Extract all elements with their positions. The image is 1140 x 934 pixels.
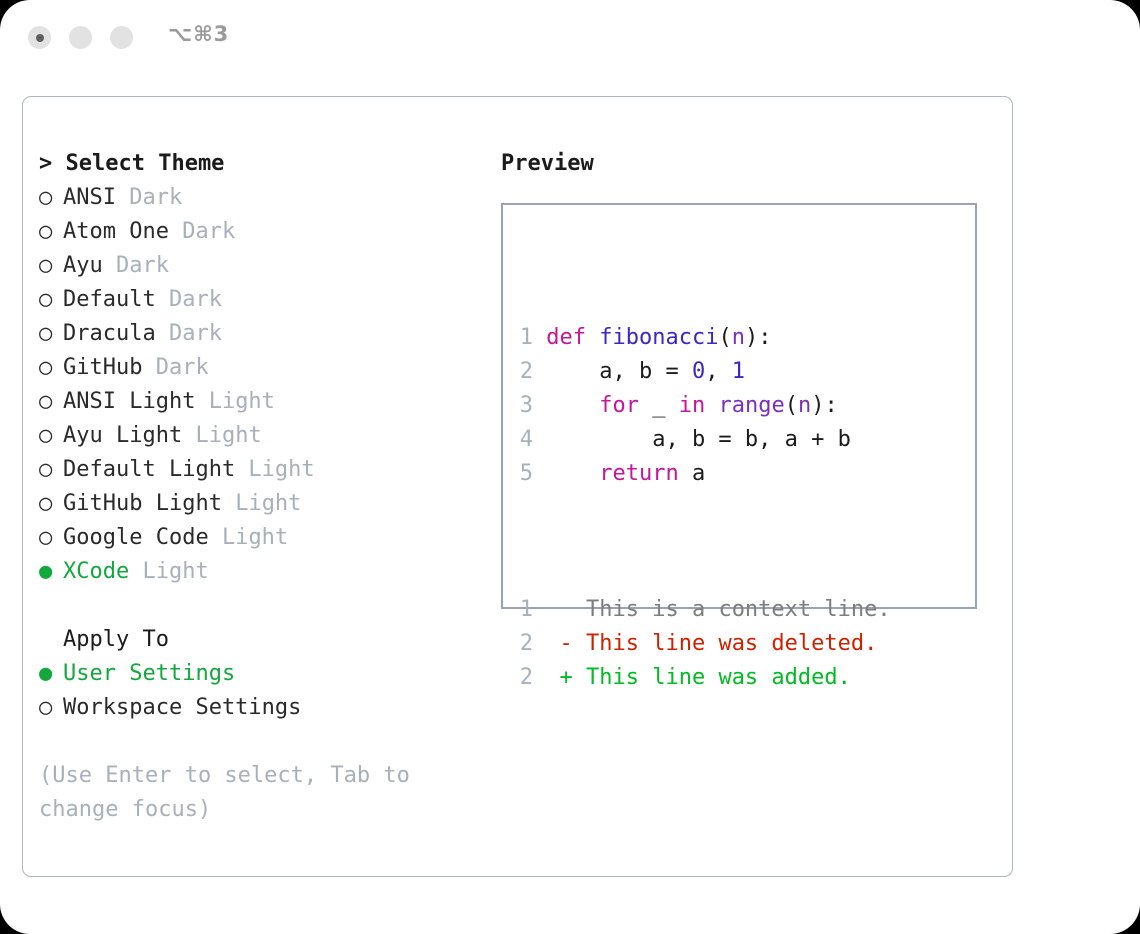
radio-unselected-icon: ○: [39, 317, 63, 351]
window-button-close[interactable]: [28, 26, 51, 49]
diff-line-del: 2 - This line was deleted.: [519, 627, 891, 661]
window-button-close-dot: [36, 34, 44, 42]
radio-unselected-icon: ○: [39, 385, 63, 419]
diff-line-number: 2: [519, 661, 533, 695]
apply-to-list: ●User Settings○Workspace Settings: [39, 657, 489, 725]
theme-name: Ayu Light: [63, 423, 182, 448]
theme-name: GitHub: [63, 355, 142, 380]
theme-name: Dracula: [63, 321, 156, 346]
code-token-fn: fibonacci: [599, 325, 718, 350]
radio-unselected-icon: ○: [39, 419, 63, 453]
code-token-num: 0: [692, 359, 705, 384]
apply-to-header: Apply To: [39, 623, 489, 657]
theme-option-dracula[interactable]: ○Dracula Dark: [39, 317, 489, 351]
theme-option-ansi[interactable]: ○ANSI Dark: [39, 181, 489, 215]
code-token-pln: [586, 325, 599, 350]
apply-to-label: User Settings: [63, 661, 235, 686]
theme-variant-tag: Dark: [142, 355, 208, 380]
theme-variant-tag: Dark: [156, 287, 222, 312]
code-token-pln: a: [679, 461, 706, 486]
theme-option-default[interactable]: ○Default Dark: [39, 283, 489, 317]
preview-column: Preview 1 def fibonacci(n):2 a, b = 0, 1…: [501, 147, 1001, 609]
window-button-minimize[interactable]: [69, 26, 92, 49]
radio-unselected-icon: ○: [39, 249, 63, 283]
diff-text: This line was added.: [573, 665, 851, 690]
keyboard-shortcut-label: ⌥⌘3: [168, 22, 229, 46]
theme-option-ayu[interactable]: ○Ayu Dark: [39, 249, 489, 283]
code-token-pln: ):: [745, 325, 772, 350]
theme-option-default-light[interactable]: ○Default Light Light: [39, 453, 489, 487]
code-token-pln: ):: [811, 393, 838, 418]
theme-variant-tag: Light: [129, 559, 208, 584]
code-token-pln: a, b = b, a + b: [546, 427, 851, 452]
radio-unselected-icon: ○: [39, 181, 63, 215]
code-token-pln: ,: [705, 359, 732, 384]
code-sample: 1 def fibonacci(n):2 a, b = 0, 13 for _ …: [519, 253, 891, 763]
code-line-number: 4: [519, 423, 533, 457]
diff-line-ctx: 1 This is a context line.: [519, 593, 891, 627]
app-window: ⌥⌘3 > Select Theme ○ANSI Dark○Atom One D…: [0, 0, 1140, 934]
code-token-num: 1: [732, 359, 745, 384]
radio-unselected-icon: ○: [39, 691, 63, 725]
radio-unselected-icon: ○: [39, 283, 63, 317]
radio-unselected-icon: ○: [39, 351, 63, 385]
theme-name: Google Code: [63, 525, 209, 550]
preview-title: Preview: [501, 147, 1001, 181]
theme-variant-tag: Dark: [116, 185, 182, 210]
theme-name: XCode: [63, 559, 129, 584]
theme-list: ○ANSI Dark○Atom One Dark○Ayu Dark○Defaul…: [39, 181, 489, 589]
window-button-maximize[interactable]: [110, 26, 133, 49]
code-line: 5 return a: [519, 457, 891, 491]
theme-option-ayu-light[interactable]: ○Ayu Light Light: [39, 419, 489, 453]
code-token-pln: (: [718, 325, 731, 350]
keyboard-hint: (Use Enter to select, Tab to change focu…: [39, 759, 459, 827]
code-token-kw: in: [679, 393, 706, 418]
radio-selected-icon: ●: [39, 657, 63, 691]
theme-variant-tag: Light: [222, 491, 301, 516]
diff-sign: +: [560, 665, 573, 690]
theme-option-github-light[interactable]: ○GitHub Light Light: [39, 487, 489, 521]
apply-to-label: Workspace Settings: [63, 695, 301, 720]
diff-line-number: 1: [519, 593, 533, 627]
radio-unselected-icon: ○: [39, 453, 63, 487]
theme-variant-tag: Light: [195, 389, 274, 414]
diff-lines: 1 This is a context line.2 - This line w…: [519, 593, 891, 695]
window-controls: [28, 26, 133, 49]
spacer-2: [39, 725, 489, 759]
theme-name: Default: [63, 287, 156, 312]
theme-option-ansi-light[interactable]: ○ANSI Light Light: [39, 385, 489, 419]
code-token-pln: [546, 461, 599, 486]
diff-sign: [560, 597, 573, 622]
code-token-pln: _: [639, 393, 679, 418]
apply-to-option-workspace-settings[interactable]: ○Workspace Settings: [39, 691, 489, 725]
diff-line-number: 2: [519, 627, 533, 661]
diff-text: This line was deleted.: [573, 631, 878, 656]
code-line-number: 3: [519, 389, 533, 423]
main-panel: > Select Theme ○ANSI Dark○Atom One Dark○…: [22, 96, 1013, 877]
radio-selected-icon: ●: [39, 555, 63, 589]
radio-unselected-icon: ○: [39, 215, 63, 249]
spacer: [39, 589, 489, 623]
apply-to-option-user-settings[interactable]: ●User Settings: [39, 657, 489, 691]
theme-option-atom-one[interactable]: ○Atom One Dark: [39, 215, 489, 249]
radio-unselected-icon: ○: [39, 521, 63, 555]
theme-variant-tag: Dark: [169, 219, 235, 244]
code-line-number: 2: [519, 355, 533, 389]
select-theme-header: > Select Theme: [39, 147, 489, 181]
preview-box: 1 def fibonacci(n):2 a, b = 0, 13 for _ …: [501, 203, 977, 609]
theme-name: Default Light: [63, 457, 235, 482]
theme-option-github[interactable]: ○GitHub Dark: [39, 351, 489, 385]
code-line: 3 for _ in range(n):: [519, 389, 891, 423]
theme-variant-tag: Dark: [156, 321, 222, 346]
code-token-var: n: [732, 325, 745, 350]
theme-option-xcode[interactable]: ●XCode Light: [39, 555, 489, 589]
theme-variant-tag: Light: [235, 457, 314, 482]
code-line: 4 a, b = b, a + b: [519, 423, 891, 457]
code-lines: 1 def fibonacci(n):2 a, b = 0, 13 for _ …: [519, 321, 891, 491]
code-token-kw: return: [599, 461, 678, 486]
code-token-kw: for: [599, 393, 639, 418]
code-token-pln: [546, 393, 599, 418]
theme-name: ANSI Light: [63, 389, 195, 414]
code-token-pln: (: [785, 393, 798, 418]
theme-variant-tag: Dark: [103, 253, 169, 278]
diff-line-add: 2 + This line was added.: [519, 661, 891, 695]
theme-selector-column: > Select Theme ○ANSI Dark○Atom One Dark○…: [39, 147, 489, 827]
code-line-number: 5: [519, 457, 533, 491]
theme-variant-tag: Light: [209, 525, 288, 550]
theme-variant-tag: Light: [182, 423, 261, 448]
theme-name: Ayu: [63, 253, 103, 278]
title-bar: ⌥⌘3: [0, 0, 1140, 78]
radio-unselected-icon: ○: [39, 487, 63, 521]
theme-name: GitHub Light: [63, 491, 222, 516]
diff-sign: -: [560, 631, 573, 656]
theme-name: ANSI: [63, 185, 116, 210]
code-token-bi: range: [718, 393, 784, 418]
code-token-var: n: [798, 393, 811, 418]
code-line-number: 1: [519, 321, 533, 355]
theme-name: Atom One: [63, 219, 169, 244]
theme-option-google-code[interactable]: ○Google Code Light: [39, 521, 489, 555]
code-token-pln: a, b =: [546, 359, 692, 384]
code-token-kw: def: [546, 325, 586, 350]
code-token-pln: [705, 393, 718, 418]
code-line: 2 a, b = 0, 1: [519, 355, 891, 389]
code-line: 1 def fibonacci(n):: [519, 321, 891, 355]
diff-text: This is a context line.: [573, 597, 891, 622]
